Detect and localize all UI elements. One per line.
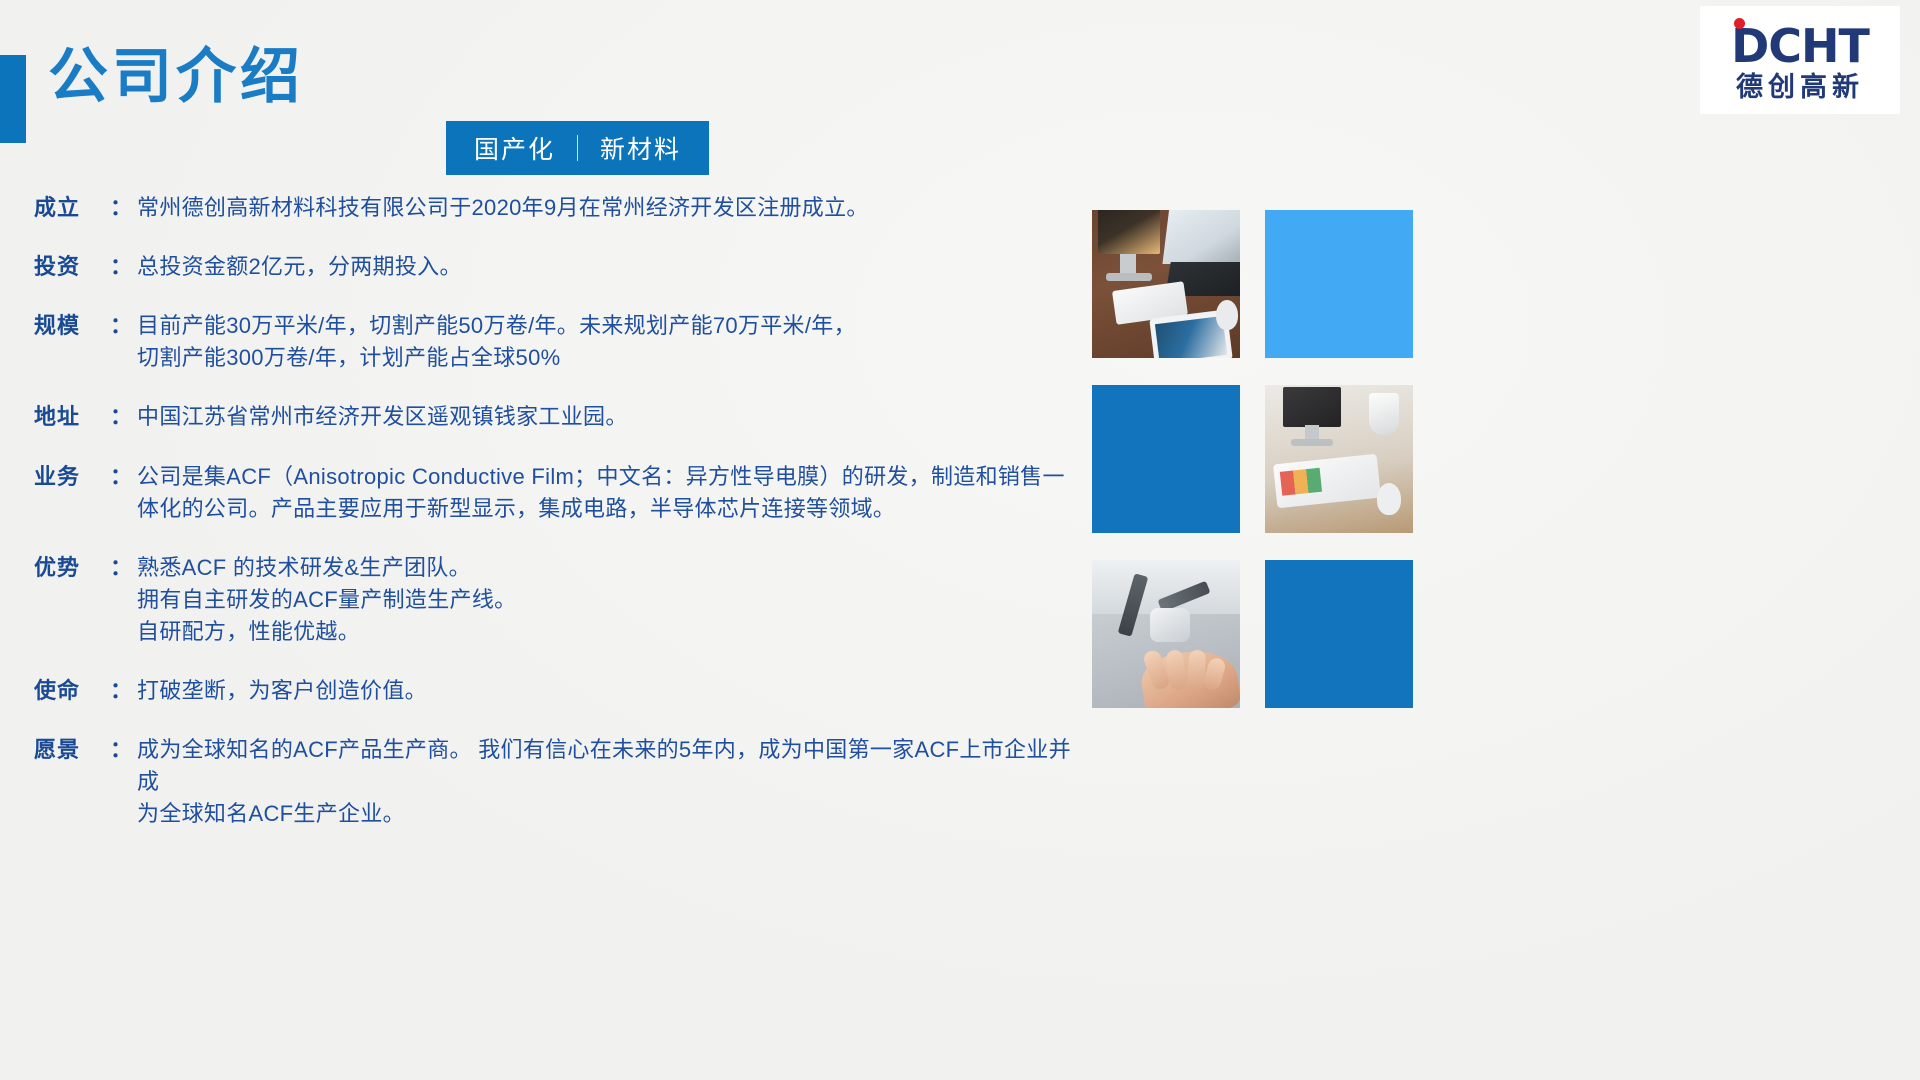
mouse-shape bbox=[1377, 483, 1401, 515]
info-row-established: 成立 ： 常州德创高新材料科技有限公司于2020年9月在常州经济开发区注册成立。 bbox=[34, 192, 1089, 224]
info-row-label: 规模 bbox=[34, 310, 110, 342]
info-row-body: 打破垄断，为客户创造价值。 bbox=[137, 675, 1089, 707]
info-row-label: 成立 bbox=[34, 192, 110, 224]
title-accent-bar bbox=[0, 55, 26, 143]
info-row-line: 公司是集ACF（Anisotropic Conductive Film；中文名：… bbox=[137, 461, 1089, 493]
info-row-colon: ： bbox=[110, 192, 137, 224]
info-row-label: 地址 bbox=[34, 401, 110, 433]
logo-red-dot-icon bbox=[1734, 18, 1745, 29]
photo-robot-arm-hand bbox=[1092, 560, 1240, 708]
info-row-line: 自研配方，性能优越。 bbox=[137, 616, 1089, 648]
info-row-label: 投资 bbox=[34, 251, 110, 283]
info-row-colon: ： bbox=[110, 310, 137, 342]
info-row-colon: ： bbox=[110, 552, 137, 584]
info-row-line: 总投资金额2亿元，分两期投入。 bbox=[137, 251, 1089, 283]
colored-keyboard-shape bbox=[1273, 454, 1381, 509]
info-row-colon: ： bbox=[110, 401, 137, 433]
info-row-label: 愿景 bbox=[34, 734, 110, 766]
tag-banner-separator bbox=[577, 135, 578, 161]
page-title: 公司介绍 bbox=[48, 44, 304, 110]
glass-shape bbox=[1369, 393, 1399, 435]
tag-banner-left-label: 国产化 bbox=[474, 130, 555, 166]
logo-mark-text: DCHT bbox=[1731, 19, 1869, 73]
info-row-mission: 使命 ： 打破垄断，为客户创造价值。 bbox=[34, 675, 1089, 707]
info-row-colon: ： bbox=[110, 251, 137, 283]
logo-wordmark: DCHT bbox=[1731, 23, 1869, 69]
info-row-line: 目前产能30万平米/年，切割产能50万卷/年。未来规划产能70万平米/年， bbox=[137, 310, 1089, 342]
info-row-vision: 愿景 ： 成为全球知名的ACF产品生产商。 我们有信心在未来的5年内，成为中国第… bbox=[34, 734, 1089, 830]
info-row-scale: 规模 ： 目前产能30万平米/年，切割产能50万卷/年。未来规划产能70万平米/… bbox=[34, 310, 1089, 374]
info-row-body: 公司是集ACF（Anisotropic Conductive Film；中文名：… bbox=[137, 461, 1089, 525]
mouse-shape bbox=[1216, 300, 1238, 330]
info-row-line: 成为全球知名的ACF产品生产商。 我们有信心在未来的5年内，成为中国第一家ACF… bbox=[137, 734, 1089, 798]
swatch-light-blue bbox=[1265, 210, 1413, 358]
company-logo: DCHT 德创高新 bbox=[1700, 6, 1900, 114]
info-row-business: 业务 ： 公司是集ACF（Anisotropic Conductive Film… bbox=[34, 461, 1089, 525]
image-grid-row bbox=[1092, 385, 1440, 533]
info-row-investment: 投资 ： 总投资金额2亿元，分两期投入。 bbox=[34, 251, 1089, 283]
image-grid bbox=[1092, 210, 1440, 735]
photo-white-desk-keyboard bbox=[1265, 385, 1413, 533]
info-row-colon: ： bbox=[110, 734, 137, 766]
info-row-colon: ： bbox=[110, 461, 137, 493]
info-row-line: 打破垄断，为客户创造价值。 bbox=[137, 675, 1089, 707]
imac-screen-shape bbox=[1098, 210, 1160, 254]
logo-chinese-name: 德创高新 bbox=[1736, 74, 1864, 101]
info-row-body: 中国江苏省常州市经济开发区遥观镇钱家工业园。 bbox=[137, 401, 1089, 433]
info-row-address: 地址 ： 中国江苏省常州市经济开发区遥观镇钱家工业园。 bbox=[34, 401, 1089, 433]
info-row-line: 常州德创高新材料科技有限公司于2020年9月在常州经济开发区注册成立。 bbox=[137, 192, 1089, 224]
info-row-colon: ： bbox=[110, 675, 137, 707]
info-row-body: 成为全球知名的ACF产品生产商。 我们有信心在未来的5年内，成为中国第一家ACF… bbox=[137, 734, 1089, 830]
company-info-list: 成立 ： 常州德创高新材料科技有限公司于2020年9月在常州经济开发区注册成立。… bbox=[34, 192, 1089, 858]
swatch-mid-blue-2 bbox=[1265, 560, 1413, 708]
info-row-label: 业务 bbox=[34, 461, 110, 493]
info-row-line: 拥有自主研发的ACF量产制造生产线。 bbox=[137, 584, 1089, 616]
info-row-line: 熟悉ACF 的技术研发&生产团队。 bbox=[137, 552, 1089, 584]
image-grid-row bbox=[1092, 210, 1440, 358]
monitor-foot-shape bbox=[1291, 439, 1333, 446]
info-row-body: 熟悉ACF 的技术研发&生产团队。 拥有自主研发的ACF量产制造生产线。 自研配… bbox=[137, 552, 1089, 648]
info-row-body: 目前产能30万平米/年，切割产能50万卷/年。未来规划产能70万平米/年， 切割… bbox=[137, 310, 1089, 374]
image-grid-row bbox=[1092, 560, 1440, 708]
tag-banner-right-label: 新材料 bbox=[600, 130, 681, 166]
info-row-line: 中国江苏省常州市经济开发区遥观镇钱家工业园。 bbox=[137, 401, 1089, 433]
swatch-mid-blue bbox=[1092, 385, 1240, 533]
monitor-shape bbox=[1283, 387, 1341, 427]
info-row-line: 切割产能300万卷/年，计划产能占全球50% bbox=[137, 342, 1089, 374]
imac-foot-shape bbox=[1106, 273, 1152, 281]
photo-desk-devices bbox=[1092, 210, 1240, 358]
info-row-body: 常州德创高新材料科技有限公司于2020年9月在常州经济开发区注册成立。 bbox=[137, 192, 1089, 224]
info-row-line: 体化的公司。产品主要应用于新型显示，集成电路，半导体芯片连接等领域。 bbox=[137, 493, 1089, 525]
info-row-body: 总投资金额2亿元，分两期投入。 bbox=[137, 251, 1089, 283]
info-row-label: 使命 bbox=[34, 675, 110, 707]
tag-banner: 国产化 新材料 bbox=[446, 121, 709, 175]
info-row-advantages: 优势 ： 熟悉ACF 的技术研发&生产团队。 拥有自主研发的ACF量产制造生产线… bbox=[34, 552, 1089, 648]
laptop-screen-shape bbox=[1162, 210, 1240, 264]
robot-head-shape bbox=[1150, 608, 1190, 642]
info-row-label: 优势 bbox=[34, 552, 110, 584]
info-row-line: 为全球知名ACF生产企业。 bbox=[137, 798, 1089, 830]
